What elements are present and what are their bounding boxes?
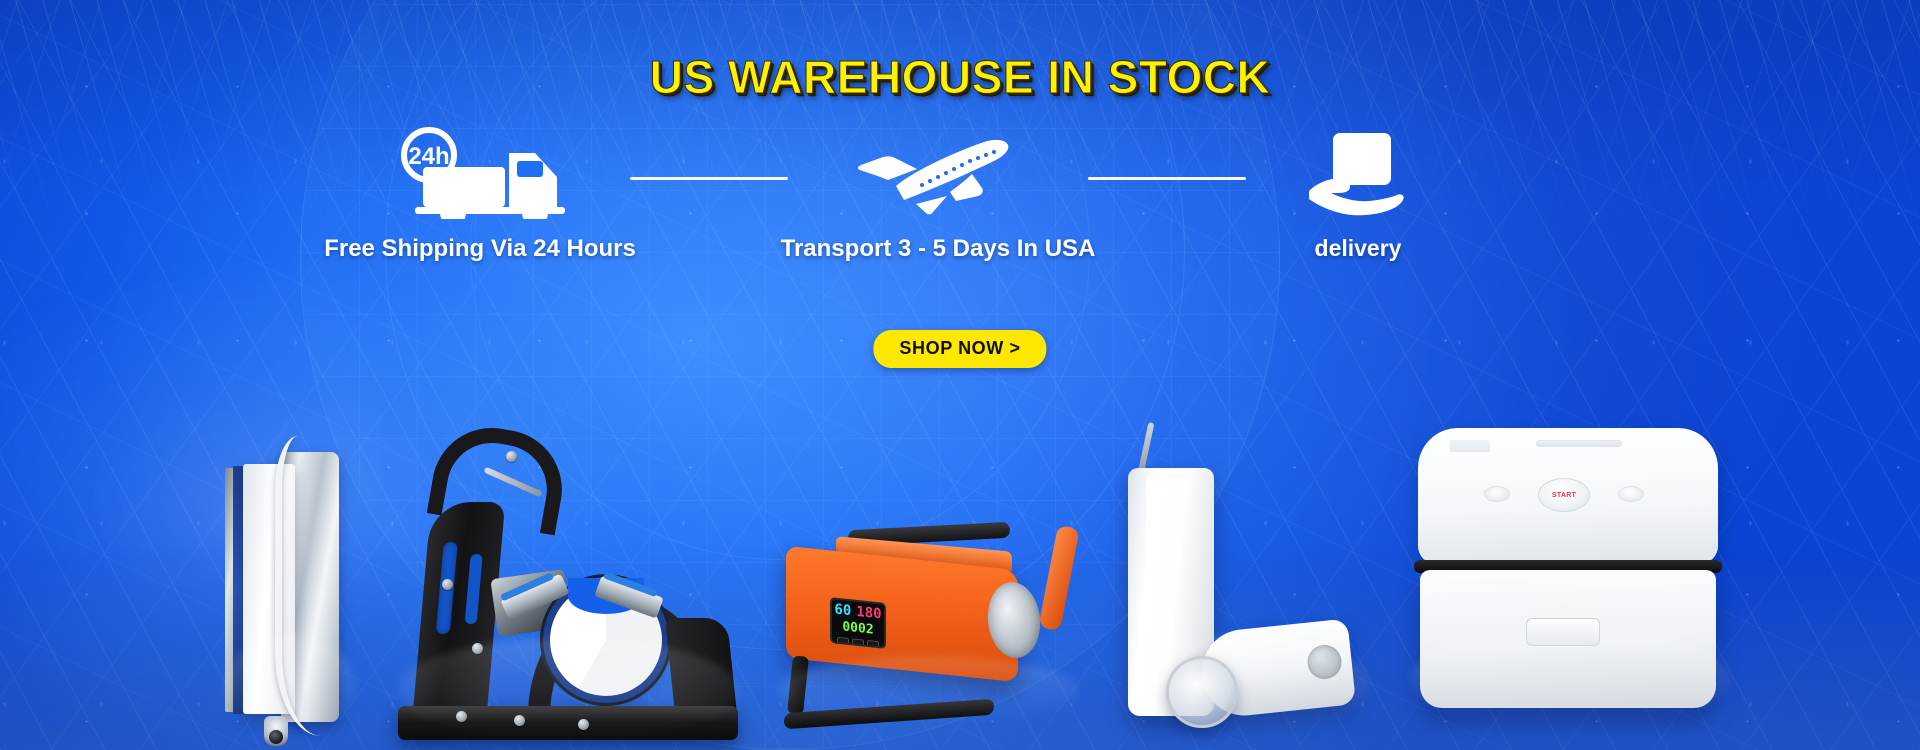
press-foot-bar: [784, 699, 994, 730]
product-orange-tumbler-heat-press[interactable]: 60 180 0002: [778, 522, 1078, 722]
promo-banner: US WAREHOUSE IN STOCK 24h: [0, 0, 1920, 750]
display-set-point: 180: [856, 605, 881, 622]
truck-24h-icon: 24h: [385, 125, 575, 221]
feature-transport: Transport 3 - 5 Days In USA: [788, 125, 1088, 263]
product-black-mug-heat-press[interactable]: [398, 435, 738, 740]
screw-icon: [506, 451, 517, 462]
product-showcase: 60 180 0002: [0, 330, 1920, 750]
feature-delivery: delivery: [1246, 125, 1470, 262]
product-white-shrink-wrap-machine[interactable]: START: [1410, 428, 1730, 728]
tumbler-lid: [1166, 656, 1238, 728]
feature-divider-1: [630, 177, 788, 180]
machine-latch[interactable]: [1526, 618, 1600, 646]
feature-divider-2: [1088, 177, 1246, 180]
feature-free-shipping: 24h Free Shipping Via 24 Hours: [330, 125, 630, 263]
screw-icon: [456, 711, 467, 722]
feature-label: Free Shipping Via 24 Hours: [324, 235, 636, 263]
cable-plug: [264, 716, 288, 746]
press-control-display[interactable]: 60 180 0002: [830, 597, 886, 649]
press-base-plate: [398, 706, 738, 740]
product-heat-plate-element[interactable]: [225, 442, 355, 732]
screw-icon: [472, 643, 483, 654]
feature-row: 24h Free Shipping Via 24 Hours: [330, 125, 1470, 265]
display-temperature: 60: [834, 603, 851, 619]
press-right-post: [665, 618, 737, 714]
banner-headline: US WAREHOUSE IN STOCK: [0, 50, 1920, 104]
press-foot-post: [787, 655, 809, 714]
power-cable: [275, 436, 321, 736]
machine-vent-slot: [1536, 440, 1622, 447]
product-white-skinny-tumblers[interactable]: [1128, 434, 1368, 734]
feature-label: Transport 3 - 5 Days In USA: [781, 235, 1096, 263]
display-timer: 0002: [842, 620, 873, 636]
press-orange-body: [786, 546, 1018, 682]
airplane-icon: [858, 125, 1018, 221]
machine-start-button[interactable]: START: [1538, 478, 1590, 512]
box-on-hand-icon: [1303, 125, 1413, 221]
screw-icon: [442, 579, 453, 590]
svg-text:24h: 24h: [408, 143, 449, 170]
machine-right-button[interactable]: [1618, 486, 1644, 502]
feature-label: delivery: [1315, 235, 1402, 262]
press-arm-column: [413, 502, 506, 714]
screw-icon: [514, 715, 525, 726]
machine-left-button[interactable]: [1484, 486, 1510, 502]
screw-icon: [578, 719, 589, 730]
start-button-label: START: [1552, 492, 1576, 499]
press-lever-arm: [1038, 525, 1079, 631]
warning-label: [1450, 440, 1490, 452]
